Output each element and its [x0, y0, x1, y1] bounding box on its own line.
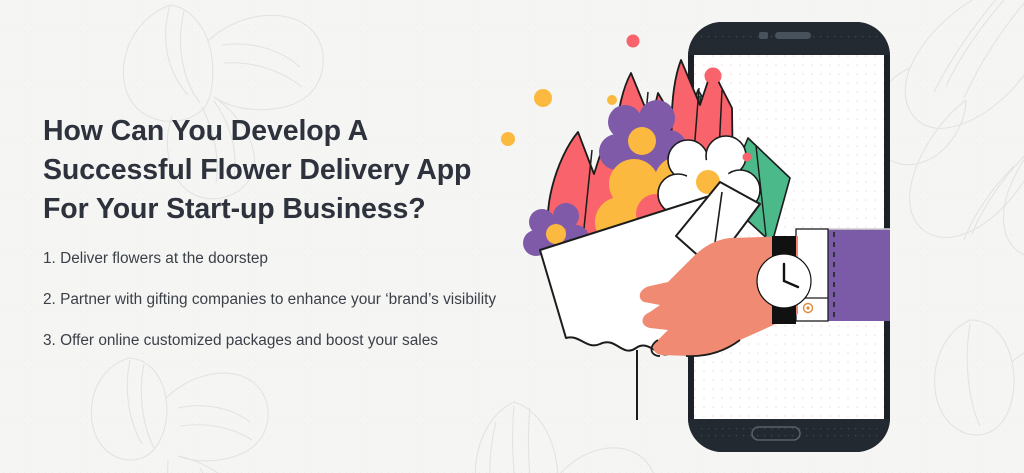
- deco-flower-rightlower: [935, 320, 1024, 435]
- purple-sleeve: [826, 229, 890, 321]
- watch-strap: [772, 296, 796, 324]
- tulip-group: [548, 60, 733, 254]
- flower-center: [628, 127, 656, 155]
- screen-accent-dot: [705, 68, 722, 85]
- cuff-button: [804, 304, 813, 313]
- wrapping-paper-cone: [540, 182, 760, 420]
- confetti-dot: [627, 35, 640, 48]
- purple-daisy-flower: [599, 100, 687, 186]
- phone-screen: [694, 55, 884, 419]
- tulip-flower: [548, 132, 628, 254]
- flower-bouquet: [523, 60, 790, 276]
- banner-root: How Can You Develop A Successful Flower …: [0, 0, 1024, 473]
- hero-illustration: [0, 0, 1024, 473]
- deco-flower-bottomleft: [91, 358, 328, 473]
- list-item: 3. Offer online customized packages and …: [43, 332, 563, 350]
- confetti-dot: [534, 89, 552, 107]
- benefit-list: 1. Deliver flowers at the doorstep 2. Pa…: [43, 250, 563, 373]
- green-leaf: [672, 90, 735, 215]
- hand-and-arm: [640, 229, 890, 356]
- copy-block: How Can You Develop A Successful Flower …: [43, 112, 513, 229]
- background-dot-texture: [0, 0, 1024, 473]
- front-camera: [759, 32, 768, 39]
- page-title: How Can You Develop A Successful Flower …: [43, 112, 513, 229]
- deco-flower-bottomcenter: [475, 402, 656, 473]
- confetti-dot: [705, 68, 721, 84]
- yellow-daisy-flower: [595, 156, 719, 276]
- watch-strap: [772, 236, 796, 266]
- cone-front: [540, 192, 722, 354]
- tulip-flower: [672, 60, 733, 190]
- tulip-flower: [615, 73, 682, 193]
- watch-face: [757, 254, 811, 308]
- cone-back-flap: [676, 182, 760, 268]
- tulip-veins: [583, 88, 722, 242]
- list-item: 2. Partner with gifting companies to enh…: [43, 291, 563, 309]
- confetti-dot: [743, 153, 752, 162]
- smartphone: [688, 22, 890, 452]
- watch-hands: [784, 264, 798, 287]
- cone-fold: [700, 192, 722, 352]
- green-leaf: [601, 186, 676, 258]
- green-leaf: [553, 174, 640, 262]
- confetti-dot: [607, 95, 617, 105]
- white-daisy-flower: [658, 136, 760, 233]
- shirt-cuff: [796, 229, 828, 321]
- flower-center: [587, 241, 605, 259]
- green-leaf: [723, 138, 790, 243]
- speaker-grille: [775, 32, 811, 39]
- flower-center: [636, 194, 676, 234]
- phone-top-bezel: [688, 22, 890, 55]
- home-button: [752, 427, 800, 440]
- hand: [640, 236, 798, 356]
- wrist-watch: [757, 236, 811, 324]
- deco-flower-topright: [871, 0, 1024, 258]
- flower-center: [546, 224, 566, 244]
- background-line-art: [0, 0, 1024, 473]
- phone-body: [688, 22, 890, 452]
- phone-bottom-bezel: [688, 419, 890, 452]
- list-item: 1. Deliver flowers at the doorstep: [43, 250, 563, 268]
- flower-center: [696, 170, 720, 194]
- confetti-group: [501, 35, 752, 162]
- green-leaf-group: [553, 90, 790, 262]
